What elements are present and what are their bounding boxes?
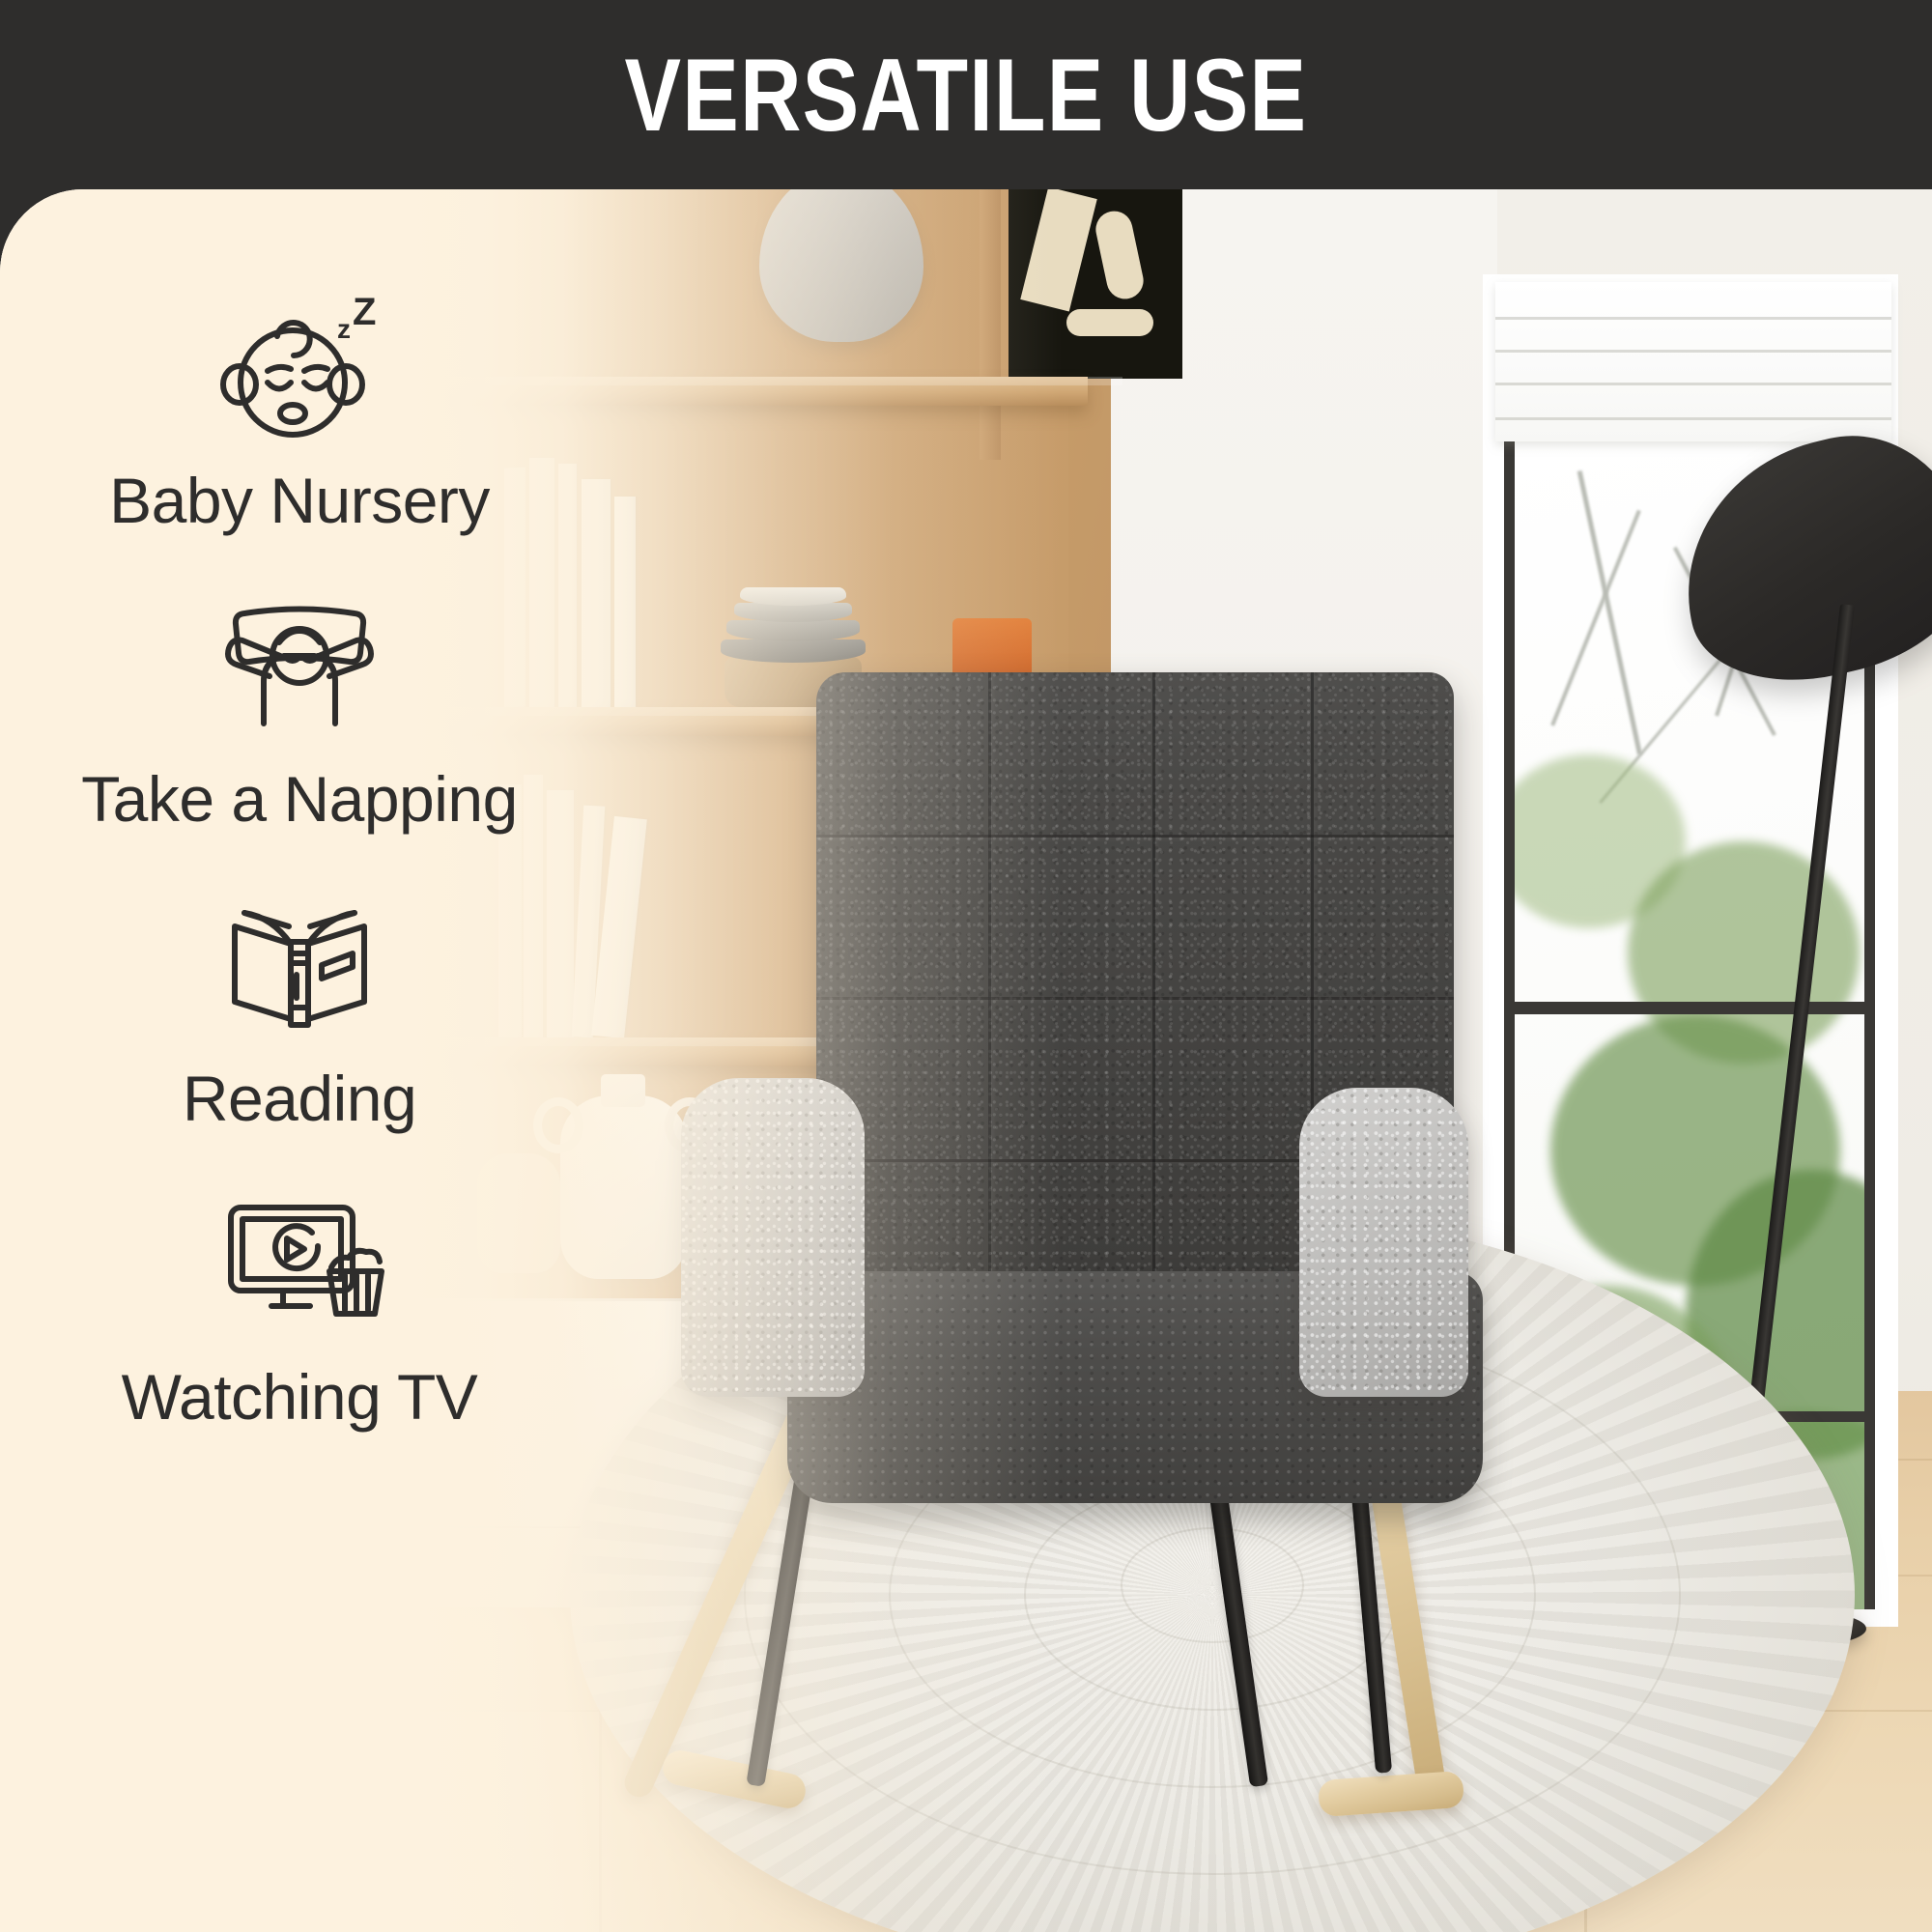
orange-candle-prop xyxy=(952,618,1032,678)
feature-label: Baby Nursery xyxy=(109,468,490,534)
sleeping-baby-face-icon: z Z xyxy=(208,282,391,446)
feature-item-reading: Reading xyxy=(0,880,599,1132)
svg-text:Z: Z xyxy=(353,291,376,333)
svg-text:z: z xyxy=(337,314,351,344)
feature-label: Reading xyxy=(183,1065,416,1132)
chair-armrest-right xyxy=(1299,1088,1468,1397)
person-napping-on-pillow-icon xyxy=(208,581,391,745)
chair-armrest-left xyxy=(681,1078,865,1397)
open-book-icon xyxy=(208,880,391,1044)
feature-label: Take a Napping xyxy=(81,766,518,833)
rocking-chair xyxy=(816,672,1579,1909)
stone-vase-prop xyxy=(759,189,923,342)
page-title: VERSATILE USE xyxy=(625,43,1308,147)
tv-with-popcorn-icon xyxy=(208,1179,391,1343)
header-bar: VERSATILE USE xyxy=(0,0,1932,189)
feature-item-baby-nursery: z Z Baby Nursery xyxy=(0,282,599,534)
feature-list: z Z Baby Nursery Take a Na xyxy=(0,189,599,1932)
content-panel: z Z Baby Nursery Take a Na xyxy=(0,189,1932,1932)
feature-label: Watching TV xyxy=(122,1364,478,1431)
framed-art-prop xyxy=(1009,189,1182,379)
feature-item-take-a-napping: Take a Napping xyxy=(0,581,599,833)
feature-item-watching-tv: Watching TV xyxy=(0,1179,599,1431)
